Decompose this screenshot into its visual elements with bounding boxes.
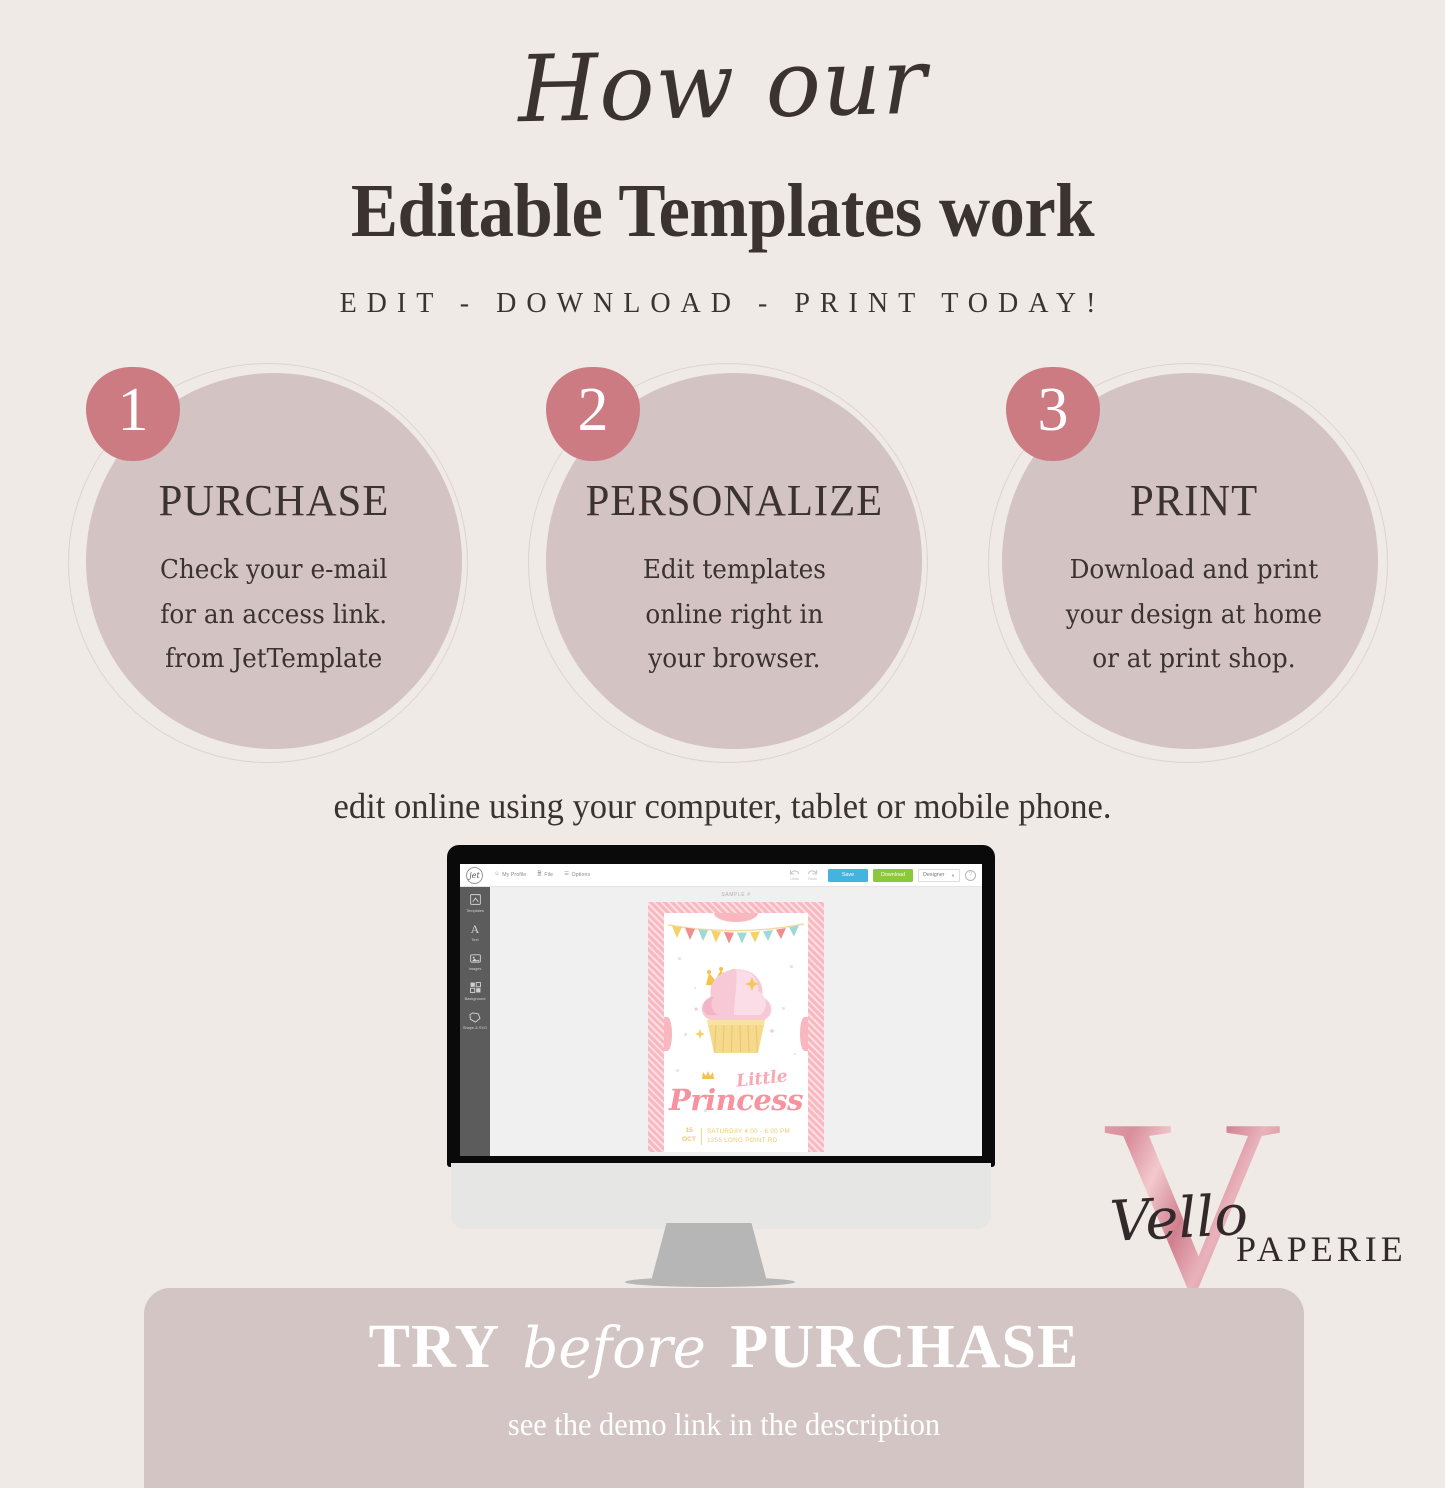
step-description: Download and print your design at home o…: [1066, 548, 1322, 682]
redo-icon: [807, 869, 818, 877]
card-title-large: Princess: [664, 1087, 808, 1115]
monitor-mockup: jet ☺ My Profile 🗎 File ☰ Options: [447, 845, 995, 1295]
step-desc-line: Download and print: [1066, 548, 1322, 593]
confetti-dot: [790, 965, 793, 968]
editor-sidebar: Templates A Text: [460, 887, 490, 1156]
menu-label: My Profile: [502, 872, 526, 878]
undo-label: Undo: [790, 877, 799, 881]
card-time-place: SATURDAY 4:00 - 6:00 PM 1255 LONG POINT …: [707, 1127, 790, 1146]
step-description: Check your e-mail for an access link. fr…: [160, 548, 387, 682]
step-title: PURCHASE: [159, 475, 390, 526]
chevron-down-icon: ▼: [951, 873, 955, 878]
bunting-garland: [668, 921, 804, 955]
step-title: PRINT: [1130, 475, 1258, 526]
undo-icon: [789, 869, 800, 877]
card-divider: [701, 1128, 702, 1145]
small-crown-icon: [701, 1070, 715, 1080]
brand-wordmark: PAPERIE: [1236, 1228, 1407, 1270]
card-address-line: 1255 LONG POINT RD: [707, 1136, 790, 1145]
editor-menu: ☺ My Profile 🗎 File ☰ Options: [494, 872, 590, 878]
background-icon: [469, 981, 482, 994]
step-desc-line: online right in: [642, 593, 825, 638]
confetti-dot: [794, 1053, 796, 1055]
editor-toolbar-right: Undo Redo Save Download Des: [789, 869, 976, 882]
sidebar-item-text[interactable]: A Text: [460, 922, 490, 941]
undo-button[interactable]: Undo: [789, 869, 800, 882]
card-right-notch: [800, 1017, 808, 1051]
step-card-purchase: 1 PURCHASE Check your e-mail for an acce…: [68, 363, 468, 763]
redo-button[interactable]: Redo: [807, 869, 818, 882]
images-icon: [469, 952, 482, 965]
confetti-dot: [684, 1033, 687, 1036]
undo-redo-group: Undo Redo: [789, 869, 818, 882]
sidebar-item-images[interactable]: Images: [460, 952, 490, 971]
sidebar-label: Templates: [466, 909, 484, 913]
help-icon[interactable]: ?: [965, 870, 976, 881]
menu-item-file[interactable]: 🗎 File: [537, 872, 553, 878]
step-desc-line: Edit templates: [642, 548, 825, 593]
sidebar-label: Shape & SVG: [463, 1026, 487, 1030]
editor-canvas[interactable]: SAMPLE #: [490, 887, 982, 1156]
templates-icon: [469, 893, 482, 906]
download-button[interactable]: Download: [873, 869, 913, 882]
sidebar-item-background[interactable]: Background: [460, 981, 490, 1000]
sidebar-label: Images: [469, 967, 482, 971]
editor-screen: jet ☺ My Profile 🗎 File ☰ Options: [460, 864, 982, 1156]
confetti-dot: [782, 1007, 785, 1010]
device-caption: edit online using your computer, tablet …: [29, 785, 1416, 827]
menu-label: File: [544, 872, 553, 878]
steps-row: 1 PURCHASE Check your e-mail for an acce…: [0, 355, 1445, 775]
card-title-block: Little Princess: [664, 1073, 808, 1114]
step-card-personalize: 2 PERSONALIZE Edit templates online righ…: [528, 363, 928, 763]
text-icon: A: [469, 922, 482, 935]
editor-toolbar: jet ☺ My Profile 🗎 File ☰ Options: [460, 864, 982, 887]
brand-script-name: Vello: [1007, 1188, 1250, 1256]
banner-head-script: before: [515, 1316, 714, 1381]
invitation-card[interactable]: Little Princess 15 OCT: [648, 902, 824, 1152]
card-inner-panel: Little Princess 15 OCT: [664, 913, 808, 1152]
sidebar-item-shape-svg[interactable]: Shape & SVG: [460, 1011, 490, 1030]
role-select[interactable]: Designer ▼: [918, 869, 960, 882]
step-desc-line: or at print shop.: [1066, 637, 1322, 682]
confetti-dot: [678, 957, 681, 960]
sidebar-label: Background: [465, 997, 486, 1001]
card-date-month: OCT: [682, 1136, 696, 1145]
headline-main: Editable Templates work: [51, 168, 1395, 255]
options-icon: ☰: [564, 872, 569, 878]
confetti-dot: [676, 1069, 679, 1072]
save-button[interactable]: Save: [828, 869, 868, 882]
menu-item-options[interactable]: ☰ Options: [564, 872, 590, 878]
headline-subtitle: EDIT - DOWNLOAD - PRINT TODAY!: [0, 288, 1445, 320]
sidebar-item-templates[interactable]: Templates: [460, 893, 490, 912]
banner-subtext: see the demo link in the description: [173, 1406, 1275, 1443]
step-desc-line: from JetTemplate: [160, 637, 387, 682]
card-date-block: 15 OCT: [682, 1127, 696, 1145]
step-card-print: 3 PRINT Download and print your design a…: [988, 363, 1388, 763]
monitor-chin: [451, 1163, 991, 1229]
step-description: Edit templates online right in your brow…: [642, 548, 825, 682]
role-select-value: Designer: [923, 872, 945, 878]
file-icon: 🗎: [537, 872, 542, 878]
menu-label: Options: [572, 872, 591, 878]
card-date-day: 15: [682, 1127, 696, 1136]
jet-logo[interactable]: jet: [466, 867, 483, 884]
card-time-line: SATURDAY 4:00 - 6:00 PM: [707, 1127, 790, 1136]
step-title: PERSONALIZE: [585, 475, 883, 526]
step-desc-line: your design at home: [1066, 593, 1322, 638]
canvas-sample-label: SAMPLE #: [721, 892, 750, 898]
step-desc-line: your browser.: [642, 637, 825, 682]
banner-head-a: TRY: [369, 1313, 498, 1381]
card-left-notch: [664, 1017, 672, 1051]
shape-svg-icon: [469, 1011, 482, 1024]
headline-script: How our: [0, 23, 1445, 150]
monitor-stand-neck: [650, 1223, 768, 1285]
card-event-details: 15 OCT SATURDAY 4:00 - 6:00 PM 1255 LONG…: [664, 1127, 808, 1146]
editor-body: Templates A Text: [460, 887, 982, 1156]
menu-item-my-profile[interactable]: ☺ My Profile: [494, 872, 526, 878]
step-desc-line: for an access link.: [160, 593, 387, 638]
sidebar-label: Text: [471, 938, 478, 942]
redo-label: Redo: [808, 877, 817, 881]
brand-logo: V Vello PAPERIE: [1008, 1082, 1388, 1297]
svg-text:A: A: [471, 923, 480, 935]
poster-canvas: How our Editable Templates work EDIT - D…: [0, 0, 1445, 1445]
user-icon: ☺: [494, 872, 500, 878]
banner-headline: TRY before PURCHASE: [144, 1312, 1304, 1383]
monitor-stand-foot: [625, 1277, 795, 1287]
cupcake-illustration: [690, 957, 782, 1057]
step-desc-line: Check your e-mail: [160, 548, 387, 593]
banner-head-b: PURCHASE: [730, 1313, 1079, 1381]
bottom-banner: TRY before PURCHASE see the demo link in…: [144, 1288, 1304, 1488]
